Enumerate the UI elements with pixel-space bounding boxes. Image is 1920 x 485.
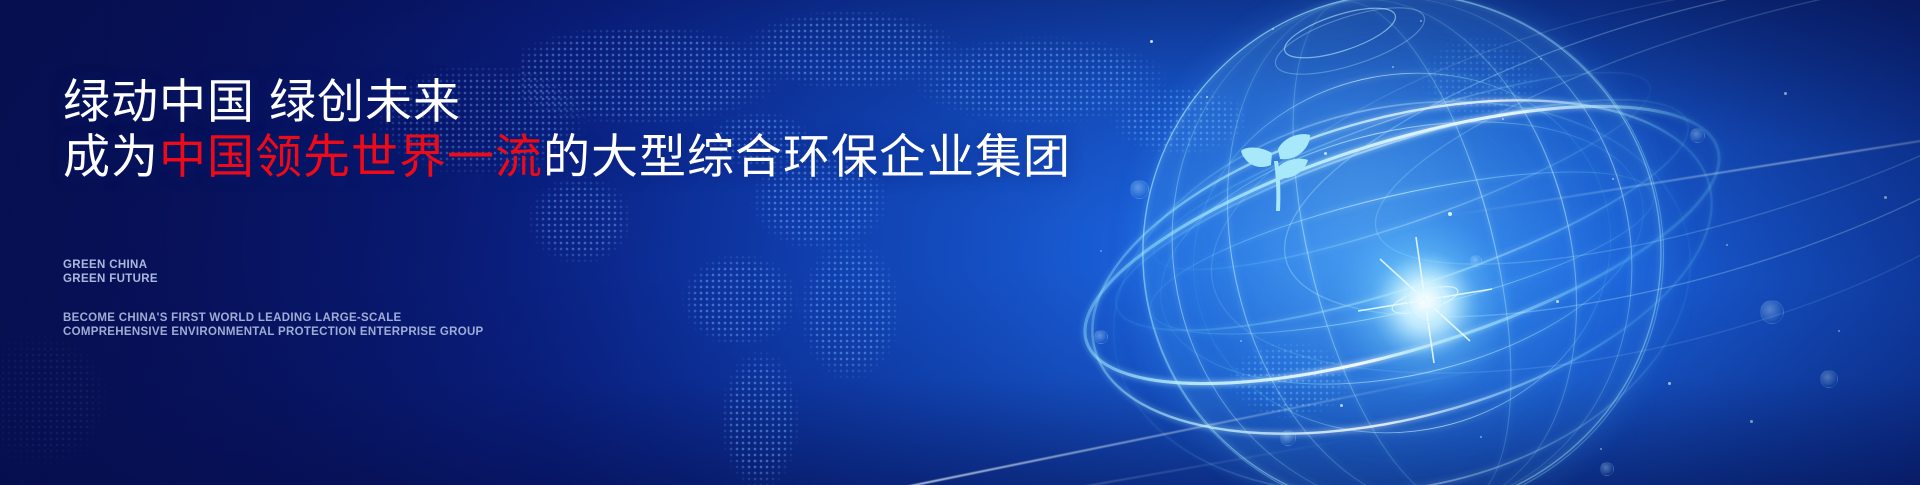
hero-banner: 绿动中国 绿创未来 成为中国领先世界一流的大型综合环保企业集团 GREEN CH… bbox=[0, 0, 1920, 485]
headline-line-2: 成为中国领先世界一流的大型综合环保企业集团 bbox=[63, 133, 1071, 180]
tagline-block: GREEN CHINA GREEN FUTURE bbox=[63, 259, 158, 286]
tagline-line-1: GREEN CHINA bbox=[63, 259, 158, 273]
subline-line-1: BECOME CHINA'S FIRST WORLD LEADING LARGE… bbox=[63, 312, 484, 326]
headline-prefix: 成为 bbox=[63, 130, 159, 183]
banner-copy: 绿动中国 绿创未来 成为中国领先世界一流的大型综合环保企业集团 GREEN CH… bbox=[0, 0, 1060, 485]
headline-suffix: 的大型综合环保企业集团 bbox=[543, 130, 1071, 183]
headline-highlight: 中国领先世界一流 bbox=[159, 130, 543, 183]
headline-line-1: 绿动中国 绿创未来 bbox=[63, 78, 461, 125]
subline-block: BECOME CHINA'S FIRST WORLD LEADING LARGE… bbox=[63, 312, 484, 339]
tagline-line-2: GREEN FUTURE bbox=[63, 273, 158, 287]
subline-line-2: COMPREHENSIVE ENVIRONMENTAL PROTECTION E… bbox=[63, 326, 484, 340]
